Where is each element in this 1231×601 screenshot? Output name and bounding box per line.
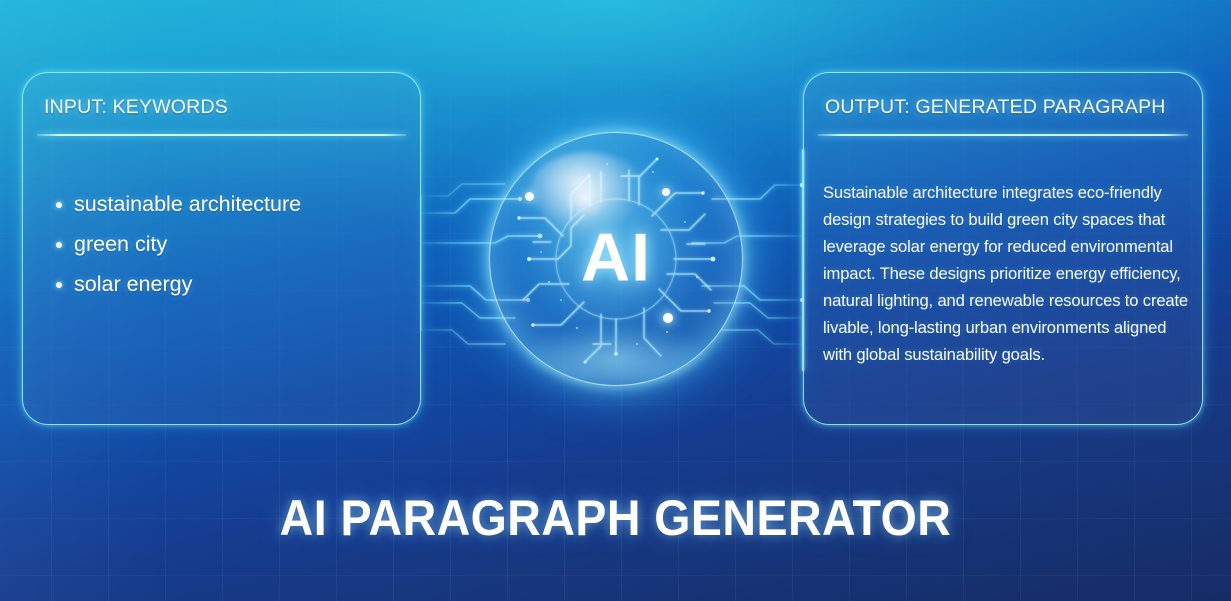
- ai-core-label: AI: [489, 218, 743, 296]
- list-item[interactable]: solar energy: [49, 273, 400, 296]
- list-item[interactable]: sustainable architecture: [49, 193, 400, 216]
- input-keywords-panel[interactable]: INPUT: KEYWORDS sustainable architecture…: [22, 72, 421, 425]
- sphere-node-dot: [525, 192, 534, 201]
- infographic-stage: INPUT: KEYWORDS sustainable architecture…: [0, 0, 1231, 601]
- sphere-node-dot: [662, 188, 670, 196]
- input-panel-header: INPUT: KEYWORDS: [44, 96, 228, 119]
- input-panel-divider: [37, 134, 406, 136]
- list-item[interactable]: green city: [49, 233, 400, 256]
- ai-core-sphere: AI: [489, 132, 743, 386]
- sphere-node-dot: [663, 313, 673, 323]
- page-title: AI PARAGRAPH GENERATOR: [43, 489, 1188, 547]
- output-panel-header: OUTPUT: GENERATED PARAGRAPH: [825, 96, 1166, 119]
- output-panel-divider: [818, 134, 1188, 136]
- generated-paragraph-text[interactable]: Sustainable architecture integrates eco-…: [823, 179, 1189, 368]
- output-paragraph-panel[interactable]: OUTPUT: GENERATED PARAGRAPH Sustainable …: [803, 72, 1203, 425]
- keyword-list: sustainable architecture green city sola…: [49, 193, 400, 314]
